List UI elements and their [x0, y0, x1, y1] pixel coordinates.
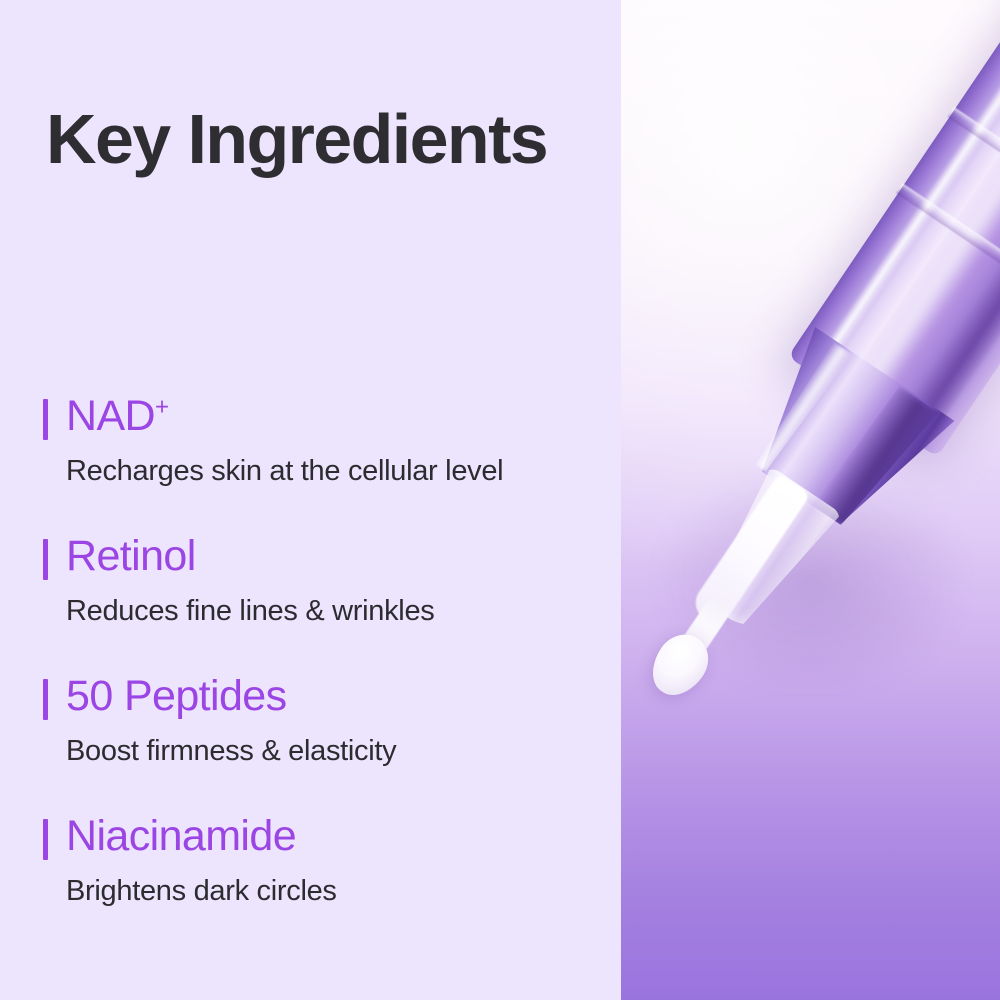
ingredient-list: NAD+ Recharges skin at the cellular leve… — [42, 392, 602, 952]
ingredient-item-retinol: Retinol Reduces fine lines & wrinkles — [42, 532, 602, 672]
ingredient-description: Boost firmness & elasticity — [66, 734, 396, 769]
ingredient-name: NAD+ — [66, 392, 168, 440]
ingredient-item-niacinamide: Niacinamide Brightens dark circles — [42, 812, 602, 952]
ingredient-name-text: NAD — [66, 392, 155, 440]
ingredient-item-peptides: 50 Peptides Boost firmness & elasticity — [42, 672, 602, 812]
accent-bar-icon — [43, 539, 48, 580]
ingredient-description: Brightens dark circles — [66, 874, 337, 909]
ingredient-name: Retinol — [66, 532, 196, 580]
accent-bar-icon — [43, 819, 48, 860]
ingredient-item-nad: NAD+ Recharges skin at the cellular leve… — [42, 392, 602, 532]
product-feature-graphic: numbuzin NAD+ R Key Ingredients NAD+ Rec… — [0, 0, 1000, 1000]
content-panel: Key Ingredients NAD+ Recharges skin at t… — [0, 0, 621, 1000]
ingredient-name-text: Retinol — [66, 532, 196, 580]
accent-bar-icon — [43, 399, 48, 440]
ingredient-name-text: 50 Peptides — [66, 672, 287, 720]
product-tube: numbuzin NAD+ R — [698, 0, 1000, 590]
accent-bar-icon — [43, 679, 48, 720]
ingredient-name: 50 Peptides — [66, 672, 287, 720]
ingredient-name-text: Niacinamide — [66, 812, 296, 860]
page-title: Key Ingredients — [46, 104, 547, 174]
product-image-panel: numbuzin NAD+ R — [621, 0, 1000, 1000]
ingredient-name: Niacinamide — [66, 812, 296, 860]
ingredient-description: Recharges skin at the cellular level — [66, 454, 503, 489]
ingredient-name-superscript: + — [155, 394, 168, 421]
ingredient-description: Reduces fine lines & wrinkles — [66, 594, 434, 629]
